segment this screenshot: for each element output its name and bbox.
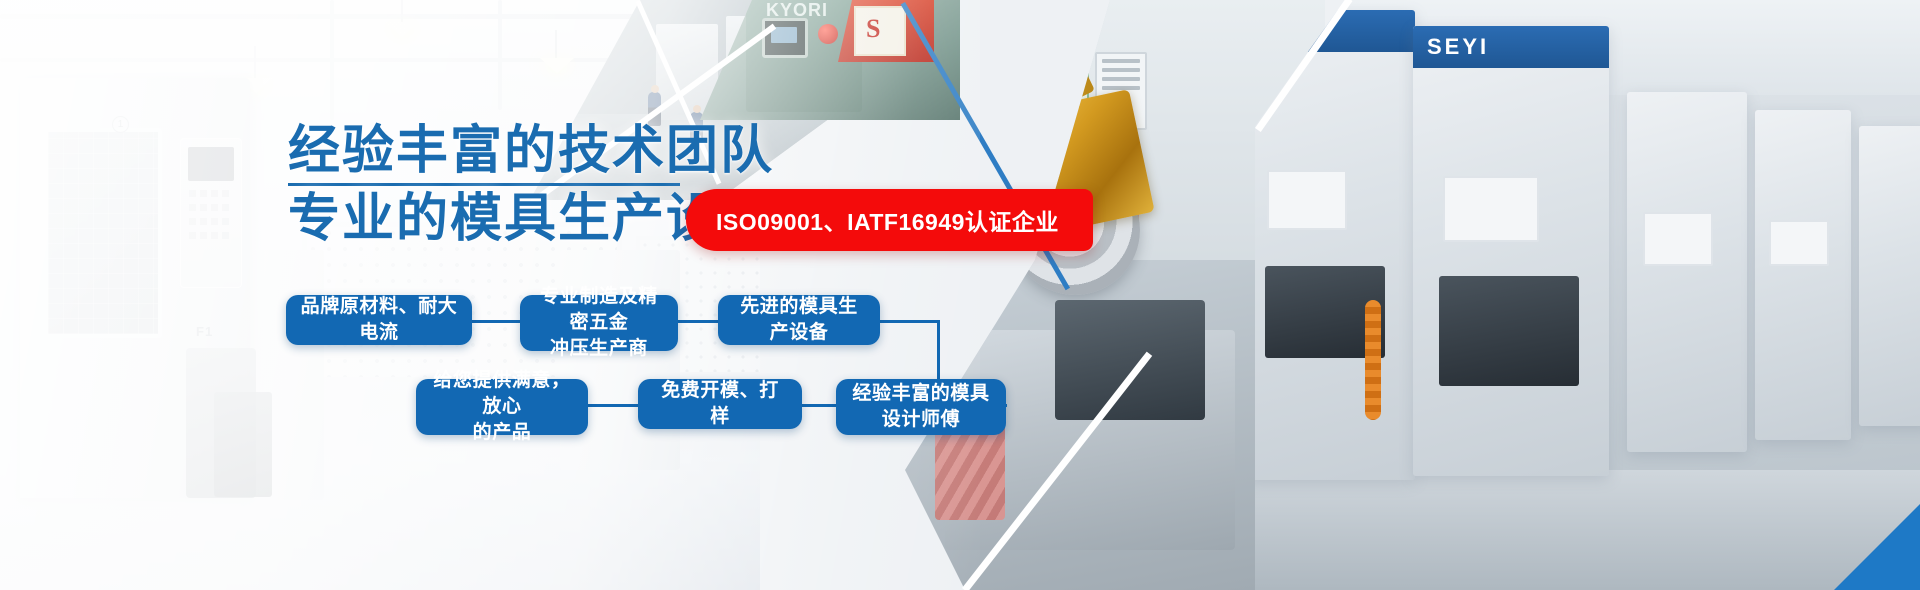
flow-box-2[interactable]: 专业制造及精密五金 冲压生产商 <box>520 295 678 351</box>
flow-box-5[interactable]: 免费开模、打样 <box>638 379 802 429</box>
flow-box-4[interactable]: 给您提供满意，放心 的产品 <box>416 379 588 435</box>
flow-box-3[interactable]: 先进的模具生产设备 <box>718 295 880 345</box>
flow-box-6-label-2: 设计师傅 <box>882 407 960 433</box>
flow-box-6-label-1: 经验丰富的模具 <box>852 381 989 407</box>
flow-box-1[interactable]: 品牌原材料、耐大电流 <box>286 295 472 345</box>
flow-box-1-label: 品牌原材料、耐大电流 <box>300 294 458 346</box>
flow-box-3-label: 先进的模具生产设备 <box>732 294 866 346</box>
promotional-banner: 1 F1 KYORI S <box>0 0 1920 590</box>
flow-connector <box>676 320 720 323</box>
flow-box-2-label-1: 专业制造及精密五金 <box>534 284 664 336</box>
flow-connector <box>586 404 640 407</box>
flow-connector <box>878 320 940 323</box>
corner-accent-triangle <box>1834 504 1920 590</box>
flow-box-4-label-1: 给您提供满意，放心 <box>430 368 574 420</box>
flow-box-2-label-2: 冲压生产商 <box>550 336 648 362</box>
banner-content: 经验丰富的技术团队 专业的模具生产设备 ISO09001、IATF16949认证… <box>0 0 1920 590</box>
feature-flowchart: 品牌原材料、耐大电流 专业制造及精密五金 冲压生产商 先进的模具生产设备 给您提… <box>0 0 1100 590</box>
flow-connector <box>470 320 522 323</box>
flow-box-6[interactable]: 经验丰富的模具 设计师傅 <box>836 379 1006 435</box>
flow-box-5-label: 免费开模、打样 <box>652 378 788 430</box>
flow-box-4-label-2: 的产品 <box>473 420 532 446</box>
